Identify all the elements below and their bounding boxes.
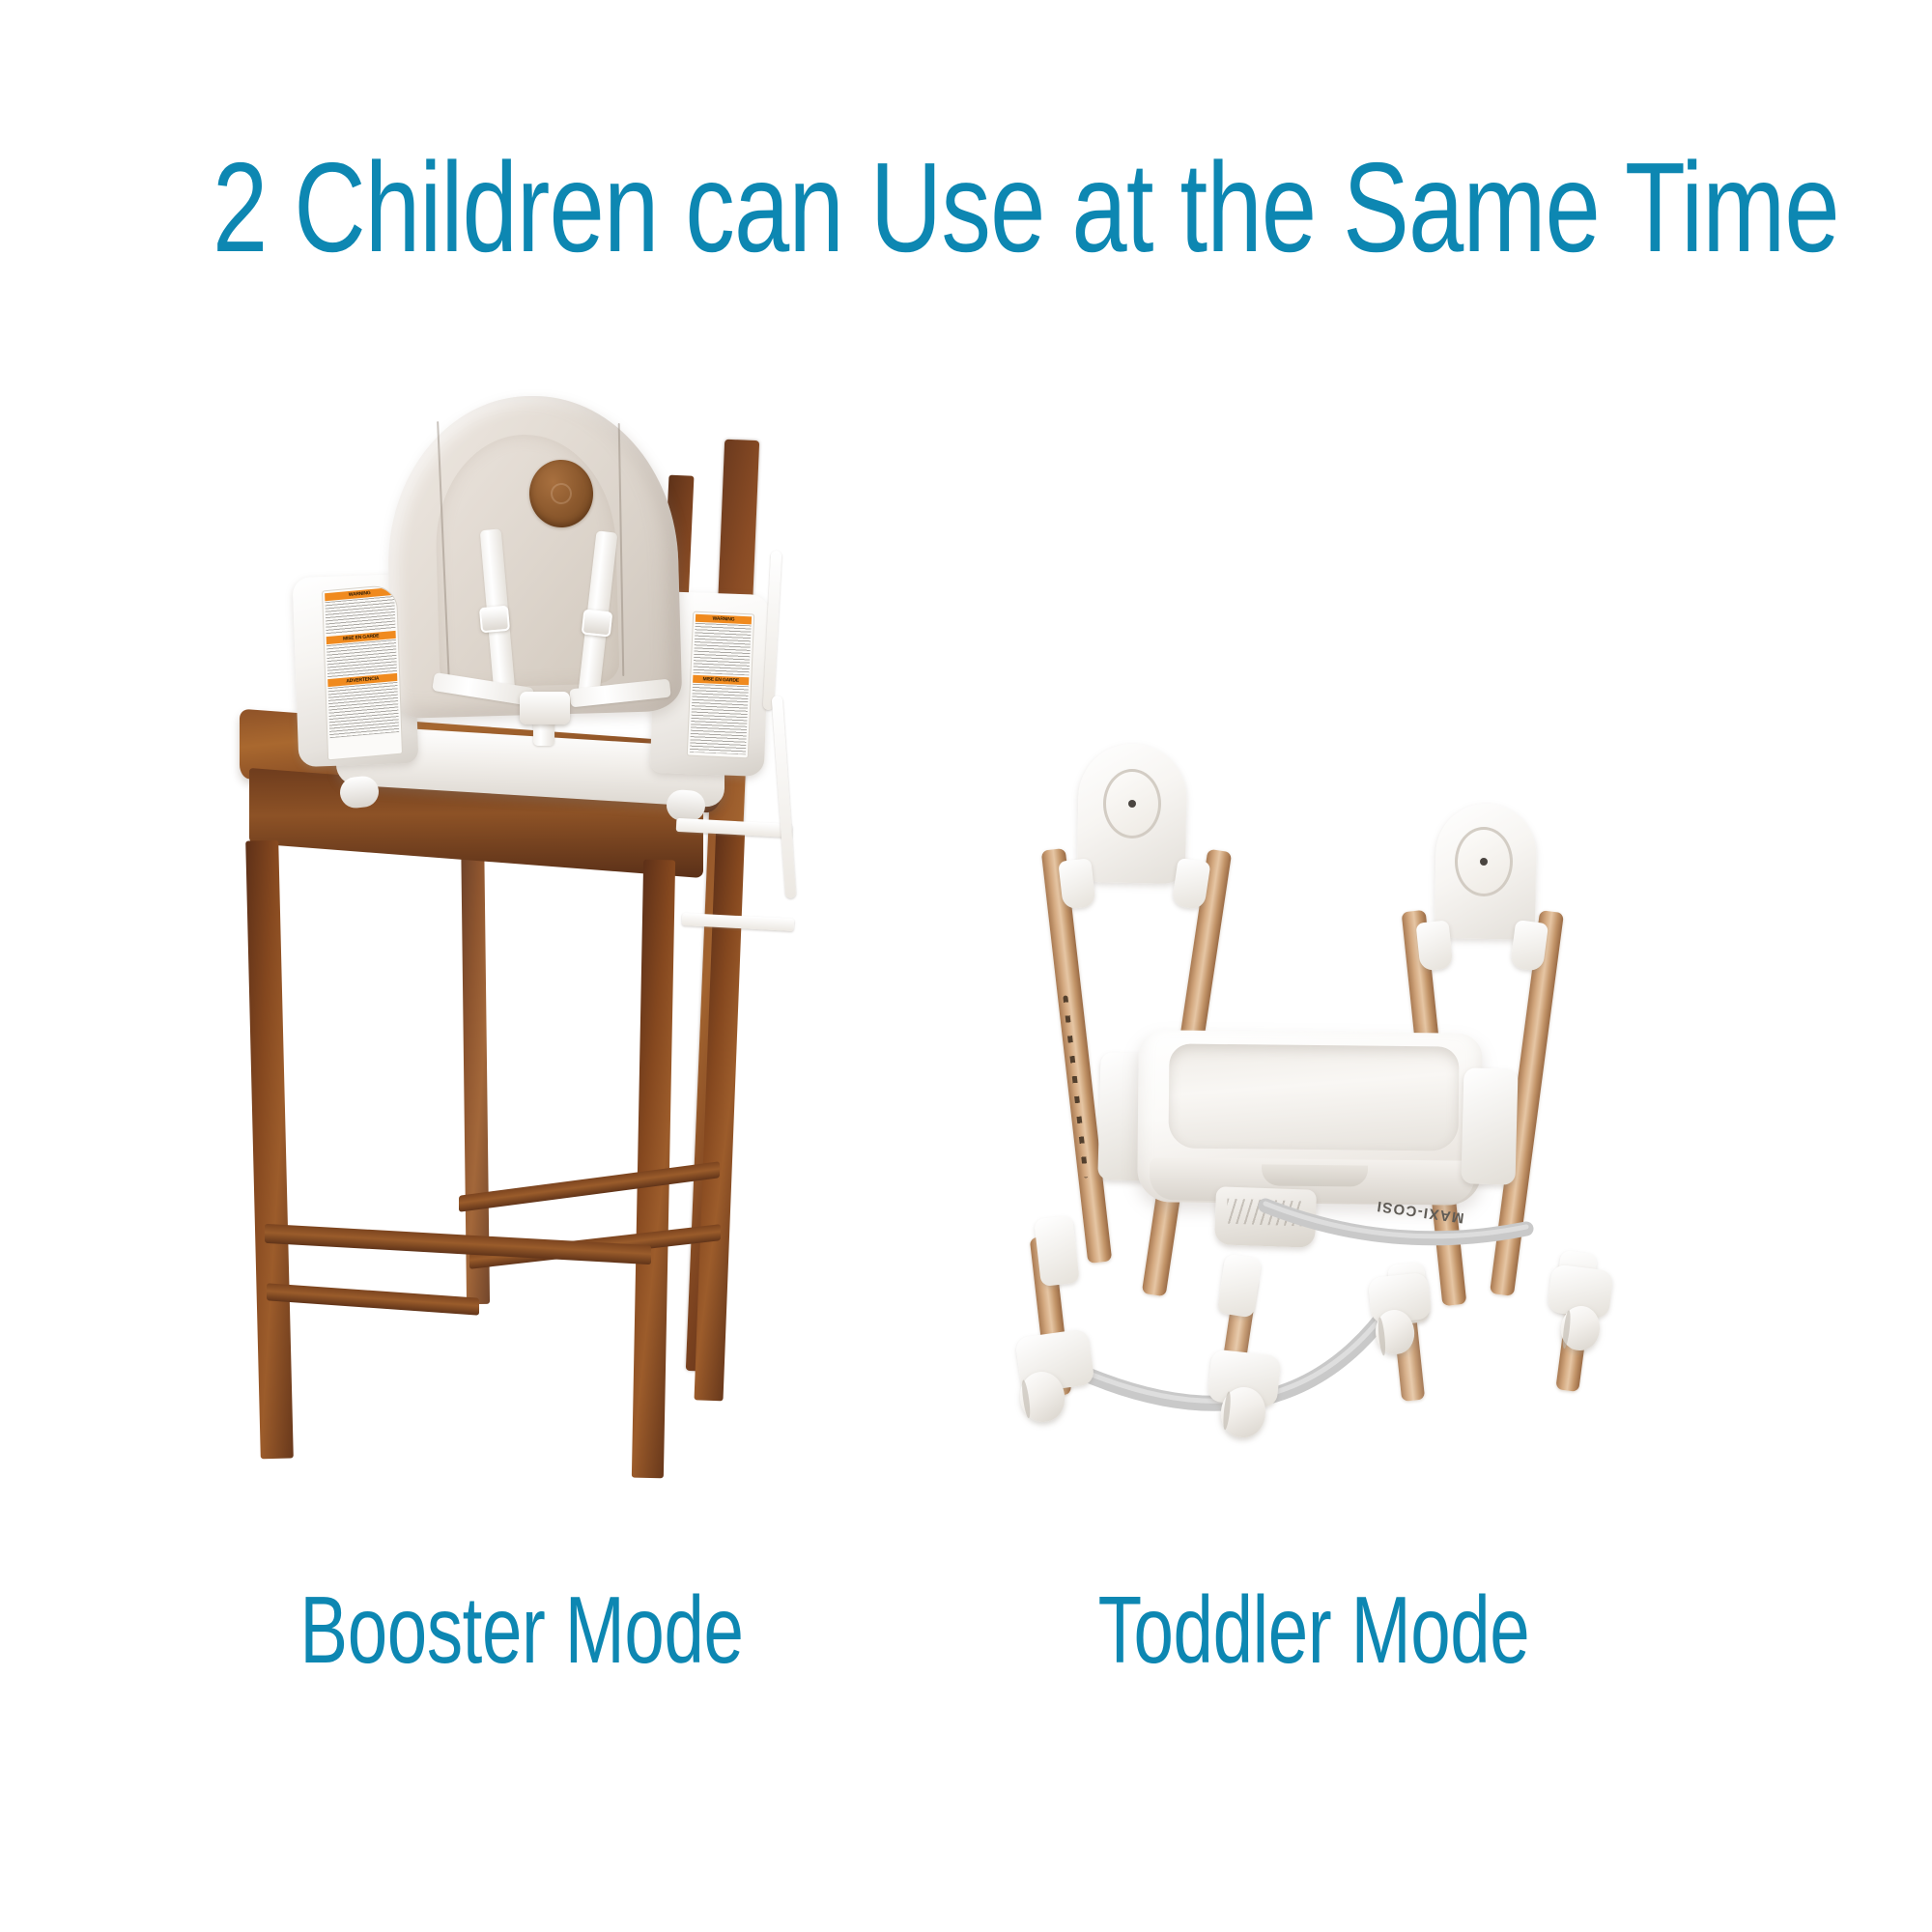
harness-buckle [520,692,570,724]
harness-adjuster [479,606,510,634]
chair-stretcher-rail [265,1224,651,1264]
warning-label-text-block [694,623,752,675]
chair-stretcher-rail [267,1283,479,1315]
chair-leg-back-left [461,821,490,1304]
warning-label-text-block [690,683,749,753]
chair-stretcher-rail [459,1161,720,1212]
harness-adjuster [582,610,613,638]
caption-booster-mode: Booster Mode [213,1582,830,1677]
chair-leg-front-left [245,840,294,1460]
booster-mode-product-photo: WARNING MISE EN GARDE ADVERTENCIA WARNIN… [222,406,918,1526]
frame-crossbars [985,734,1662,1536]
marketing-image-canvas: 2 Children can Use at the Same Time [0,0,1932,1932]
toddler-mode-product-photo: MAXI-COSI [985,734,1662,1536]
caption-toddler-mode: Toddler Mode [1006,1582,1622,1677]
warning-label-text-block [325,596,395,635]
booster-base-foot [666,789,706,823]
warning-label-text-block [327,639,397,677]
booster-seat-unit: WARNING MISE EN GARDE ADVERTENCIA WARNIN… [280,396,782,811]
warning-label-text-block [328,682,400,738]
page-title: 2 Children can Use at the Same Time [213,143,1719,273]
warning-label-right: WARNING MISE EN GARDE [687,611,754,759]
warning-label-left: WARNING MISE EN GARDE ADVERTENCIA [322,584,403,761]
booster-base-foot [338,775,380,810]
